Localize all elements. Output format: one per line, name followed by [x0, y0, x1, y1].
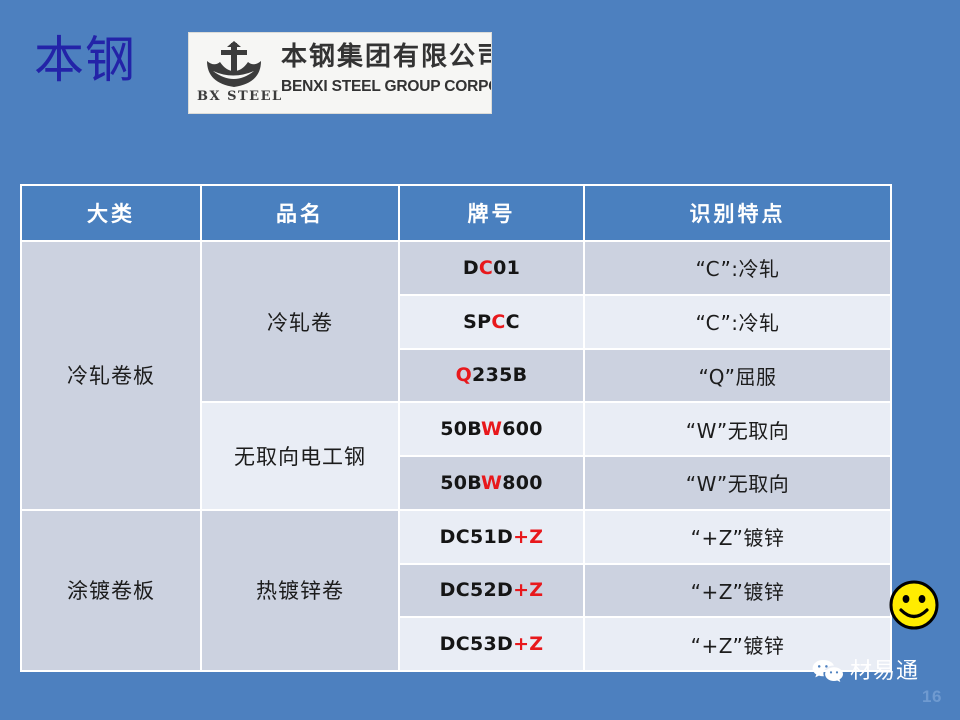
page-number: 16 — [922, 687, 942, 707]
cell-grade: DC51D+Z — [399, 510, 584, 564]
grade-highlight: C — [479, 257, 493, 279]
cell-feature: “C”:冷轧 — [584, 241, 891, 295]
column-header-grade: 牌号 — [399, 185, 584, 241]
cell-category: 冷轧卷板 — [21, 241, 201, 510]
grade-highlight: W — [481, 472, 502, 494]
smiley-face-icon — [888, 579, 940, 631]
grade-highlight: +Z — [513, 633, 543, 655]
feature-highlight: +Z — [701, 580, 732, 604]
cell-product: 冷轧卷 — [201, 241, 399, 402]
feature-highlight: +Z — [701, 634, 732, 658]
logo-company-en: BENXI STEEL GROUP CORPORATION — [281, 77, 492, 96]
cell-feature: “Q”屈服 — [584, 349, 891, 403]
grade-highlight: +Z — [513, 579, 543, 601]
wechat-watermark: 材易通 — [812, 655, 919, 689]
grade-highlight: C — [491, 311, 505, 333]
cell-grade: DC01 — [399, 241, 584, 295]
table-row: 涂镀卷板热镀锌卷DC51D+Z“+Z”镀锌 — [21, 510, 891, 564]
grade-highlight: W — [481, 418, 502, 440]
logo-mark-label: BX STEEL — [197, 89, 273, 104]
company-logo: BX STEEL 本钢集团有限公司 BENXI STEEL GROUP CORP… — [188, 32, 492, 114]
wechat-watermark-label: 材易通 — [850, 659, 919, 685]
feature-highlight: +Z — [701, 526, 732, 550]
page-title: 本钢 — [34, 30, 136, 90]
table-body: 冷轧卷板冷轧卷DC01“C”:冷轧SPCC“C”:冷轧Q235B“Q”屈服无取向… — [21, 241, 891, 671]
cell-feature: “+Z”镀锌 — [584, 510, 891, 564]
cell-category: 涂镀卷板 — [21, 510, 201, 671]
logo-company-cn: 本钢集团有限公司 — [281, 42, 492, 72]
column-header-feature: 识别特点 — [584, 185, 891, 241]
column-header-product: 品名 — [201, 185, 399, 241]
cell-product: 无取向电工钢 — [201, 402, 399, 510]
cell-feature: “W”无取向 — [584, 402, 891, 456]
cell-grade: SPCC — [399, 295, 584, 349]
cell-grade: 50BW600 — [399, 402, 584, 456]
wechat-icon — [812, 659, 844, 685]
table-header-row: 大类 品名 牌号 识别特点 — [21, 185, 891, 241]
cell-grade: DC52D+Z — [399, 564, 584, 618]
steel-grade-table: 大类 品名 牌号 识别特点 冷轧卷板冷轧卷DC01“C”:冷轧SPCC“C”:冷… — [20, 184, 892, 672]
grade-highlight: Q — [456, 364, 472, 386]
column-header-category: 大类 — [21, 185, 201, 241]
cell-grade: 50BW800 — [399, 456, 584, 510]
cell-grade: Q235B — [399, 349, 584, 403]
cell-grade: DC53D+Z — [399, 617, 584, 671]
table-row: 冷轧卷板冷轧卷DC01“C”:冷轧 — [21, 241, 891, 295]
slide-canvas: 本钢 BX STEEL 本钢集团有限公司 BENXI STEEL GROUP C… — [0, 0, 960, 720]
anchor-steel-mark-icon — [203, 41, 265, 89]
grade-highlight: +Z — [513, 526, 543, 548]
cell-feature: “W”无取向 — [584, 456, 891, 510]
cell-feature: “+Z”镀锌 — [584, 564, 891, 618]
cell-product: 热镀锌卷 — [201, 510, 399, 671]
cell-feature: “C”:冷轧 — [584, 295, 891, 349]
